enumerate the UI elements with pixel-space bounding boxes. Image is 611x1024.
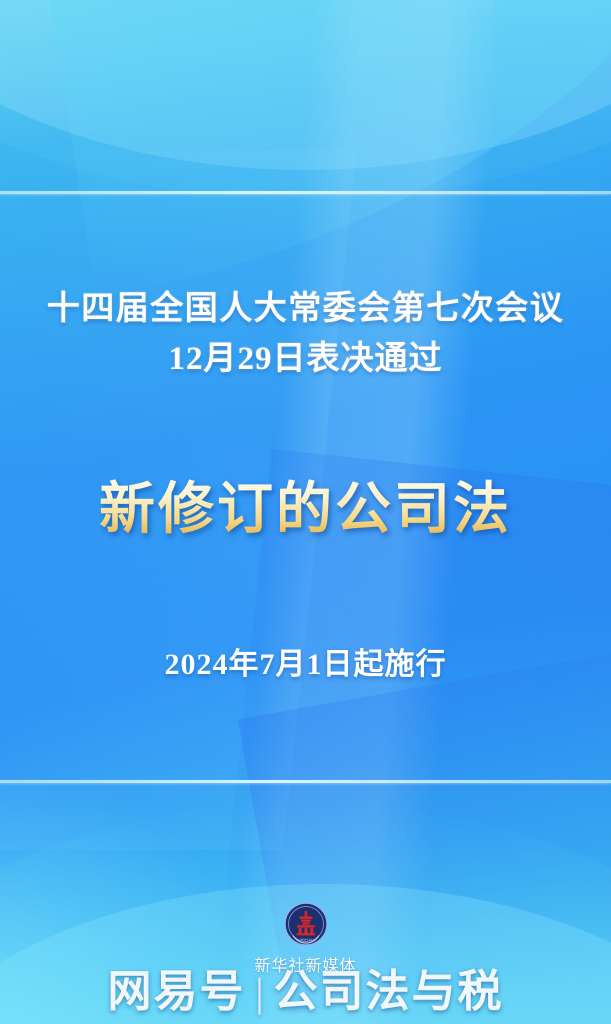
top-arc-shape — [0, 0, 611, 200]
xinhua-agency-logo-icon: XINHUA — [284, 902, 328, 946]
watermark-separator: | — [255, 964, 263, 1022]
watermark-account-text: 公司法与税 — [274, 963, 504, 1021]
main-title-block: 新修订的公司法 — [0, 474, 611, 546]
effective-date-block: 2024年7月1日起施行 — [0, 644, 611, 686]
watermark-brand-text: 网易号 — [107, 963, 245, 1021]
top-arc-shape-secondary — [0, 0, 611, 170]
top-right-swoosh-shape — [15, 0, 611, 296]
headline-line-1: 十四届全国人大常委会第七次会议 — [0, 284, 611, 334]
top-divider-rule — [0, 191, 611, 194]
headline-block: 十四届全国人大常委会第七次会议 12月29日表决通过 — [0, 284, 611, 384]
main-title-text: 新修订的公司法 — [99, 474, 512, 546]
headline-line-2: 12月29日表决通过 — [0, 334, 611, 384]
effective-date-text: 2024年7月1日起施行 — [165, 648, 447, 681]
platform-watermark: 网易号 | 公司法与税 — [107, 963, 503, 1022]
poster-canvas: 十四届全国人大常委会第七次会议 12月29日表决通过 新修订的公司法 2024年… — [0, 0, 611, 1024]
bottom-divider-rule — [0, 780, 611, 783]
svg-text:XINHUA: XINHUA — [300, 938, 313, 942]
